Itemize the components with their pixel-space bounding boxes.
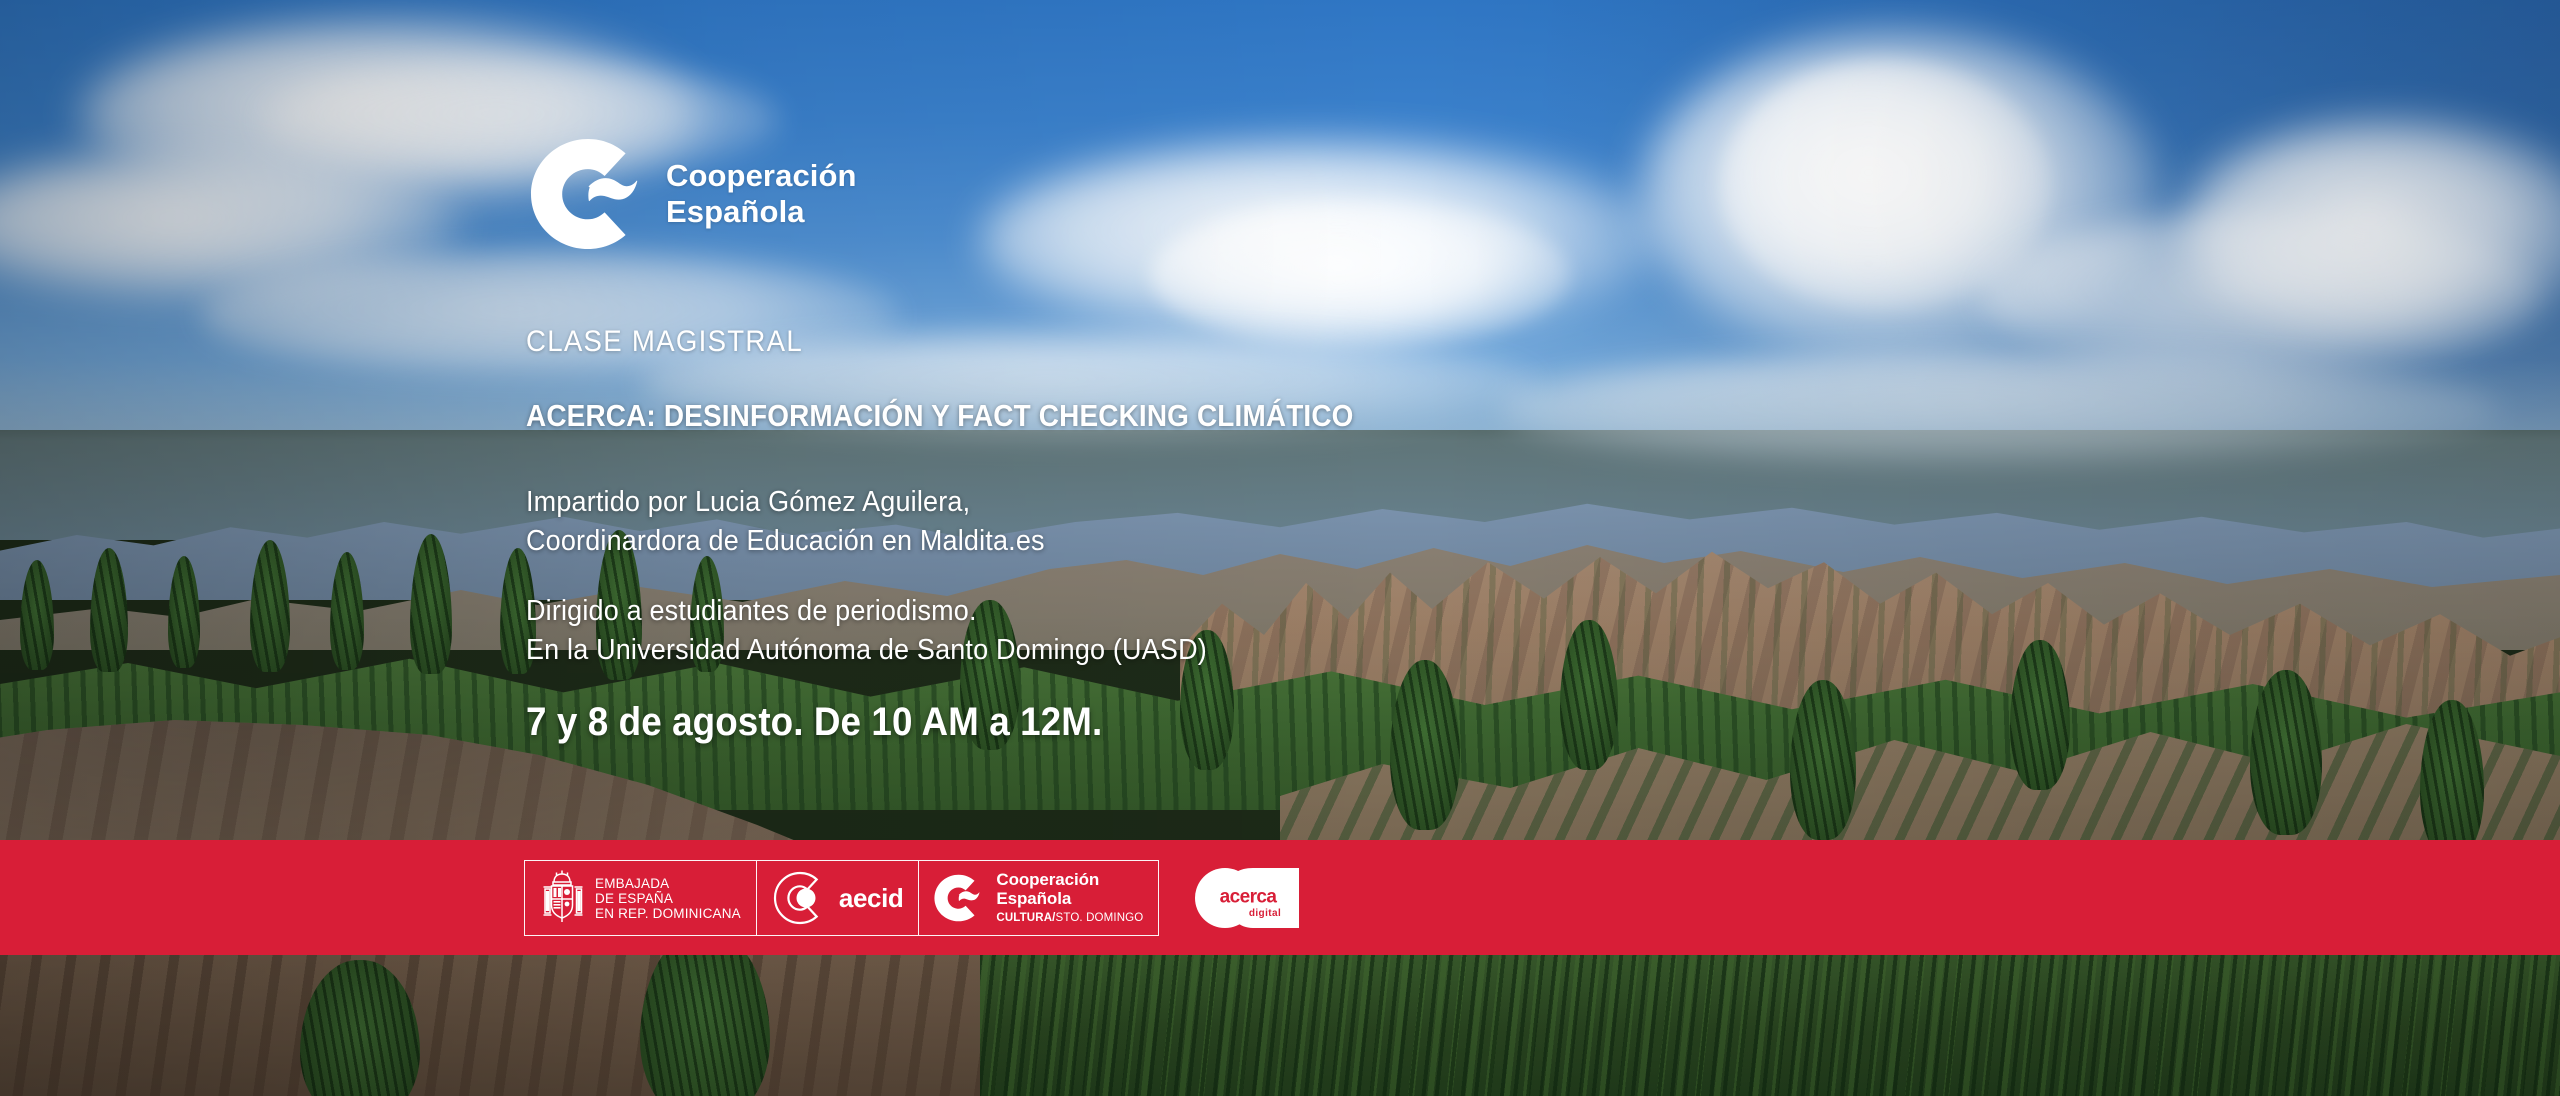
foreground-bare-earth: [0, 940, 980, 1096]
audience-paragraph: Dirigido a estudiantes de periodismo. En…: [526, 592, 1207, 670]
aecid-wordmark: aecid: [839, 883, 904, 914]
cooperacion-line-3: CULTURA/STO. DOMINGO: [996, 910, 1143, 926]
audience-line-2: En la Universidad Autónoma de Santo Domi…: [526, 631, 1207, 670]
svg-text:acerca: acerca: [1220, 887, 1278, 908]
logo-acerca-digital-wrap: acerca digital acerca digital: [1195, 860, 1303, 936]
embajada-line-1: EMBAJADA: [595, 876, 741, 891]
sponsor-logo-rail: EMBAJADA DE ESPAÑA EN REP. DOMINICANA ae…: [524, 860, 1303, 936]
brand-line-1: Cooperación: [666, 158, 857, 194]
audience-line-1: Dirigido a estudiantes de periodismo.: [526, 592, 1207, 631]
brand-lockup: Cooperación Española: [530, 138, 857, 250]
speaker-paragraph: Impartido por Lucia Gómez Aguilera, Coor…: [526, 483, 1045, 561]
aecid-logo: [772, 870, 826, 926]
embajada-line-3: EN REP. DOMINICANA: [595, 906, 741, 921]
cooperacion-line-2: Española: [996, 889, 1143, 908]
kicker-label: CLASE MAGISTRAL: [526, 325, 803, 359]
logo-cooperacion-espanola-cultura: Cooperación Española CULTURA/STO. DOMING…: [918, 861, 1158, 935]
cultura-label: CULTURA: [996, 912, 1052, 924]
logo-aecid: aecid: [756, 861, 919, 935]
spain-coat-of-arms-icon: [540, 869, 584, 927]
sto-domingo-label: STO. DOMINGO: [1056, 912, 1144, 924]
speaker-line-2: Coordinardora de Educación en Maldita.es: [526, 522, 1045, 561]
brand-line-2: Española: [666, 194, 857, 230]
svg-text:digital: digital: [1249, 908, 1281, 919]
embajada-line-2: DE ESPAÑA: [595, 891, 741, 906]
cooperacion-line-1: Cooperación: [996, 870, 1143, 889]
logo-embajada-de-espana: EMBAJADA DE ESPAÑA EN REP. DOMINICANA: [525, 861, 756, 935]
page-title: ACERCA: DESINFORMACIÓN Y FACT CHECKING C…: [526, 398, 1354, 434]
speaker-line-1: Impartido por Lucia Gómez Aguilera,: [526, 483, 1045, 522]
footer-red-band: EMBAJADA DE ESPAÑA EN REP. DOMINICANA ae…: [0, 840, 2560, 955]
event-datetime: 7 y 8 de agosto. De 10 AM a 12M.: [526, 700, 1102, 745]
poster-canvas: Cooperación Española CLASE MAGISTRAL ACE…: [0, 0, 2560, 1096]
cooperacion-espanola-logo: [934, 874, 984, 922]
atmospheric-haze: [0, 360, 2560, 540]
acerca-digital-logo: acerca digital: [1195, 860, 1303, 936]
cooperacion-wordmark: Cooperación Española CULTURA/STO. DOMING…: [996, 870, 1143, 926]
brand-wordmark: Cooperación Española: [666, 158, 857, 230]
embajada-wordmark: EMBAJADA DE ESPAÑA EN REP. DOMINICANA: [595, 876, 741, 921]
sponsor-logo-box: EMBAJADA DE ESPAÑA EN REP. DOMINICANA ae…: [524, 860, 1159, 936]
cooperacion-espanola-logo: [530, 138, 648, 250]
